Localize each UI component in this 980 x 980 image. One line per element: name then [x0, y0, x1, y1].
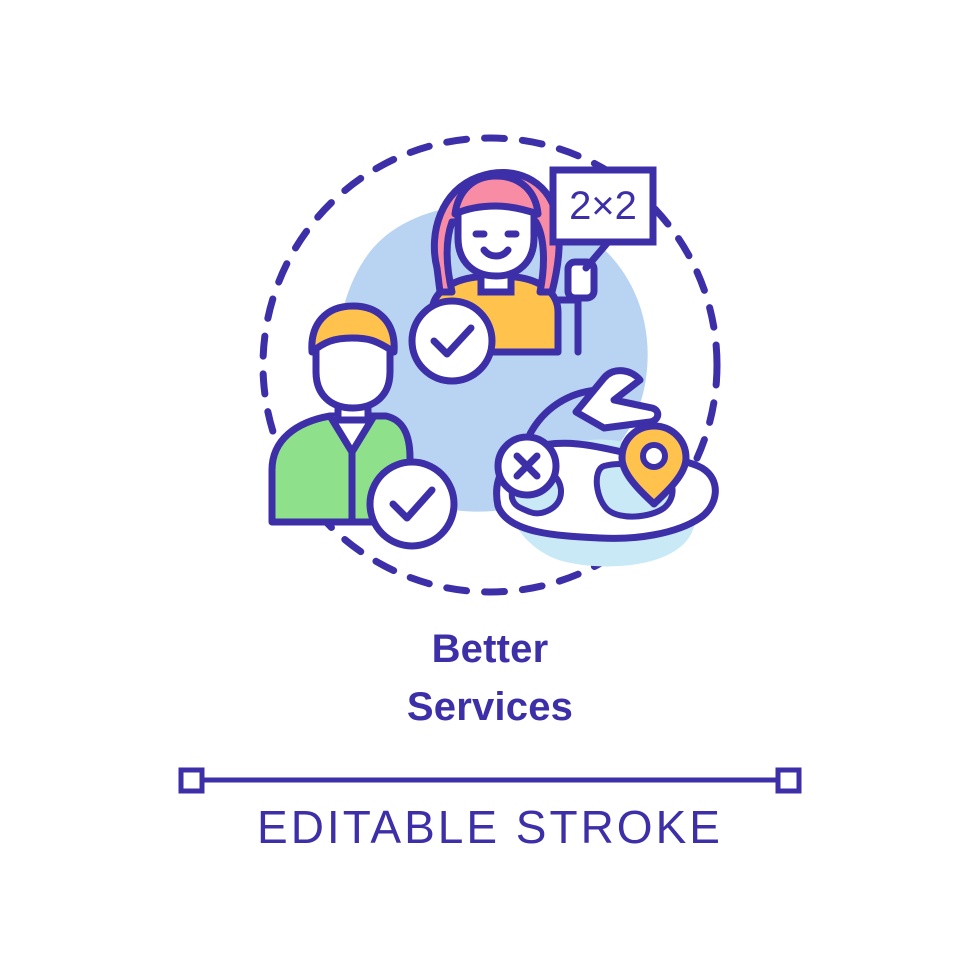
location-pin-dot	[643, 445, 665, 467]
editable-stroke-label: EDITABLE STROKE	[0, 800, 980, 854]
concept-icon-page: 2×2	[0, 0, 980, 980]
page-title: Better Services	[0, 620, 980, 736]
better-services-illustration: 2×2	[0, 0, 980, 620]
page-title-line-2: Services	[0, 678, 980, 736]
rule-endpoint-left	[181, 770, 202, 791]
rule-endpoint-right	[778, 770, 799, 791]
page-title-line-1: Better	[0, 620, 980, 678]
illustration-area: 2×2	[0, 0, 980, 620]
check-badge-bottom	[370, 462, 454, 546]
math-board-text: 2×2	[569, 184, 637, 228]
check-badge-top	[412, 301, 492, 381]
